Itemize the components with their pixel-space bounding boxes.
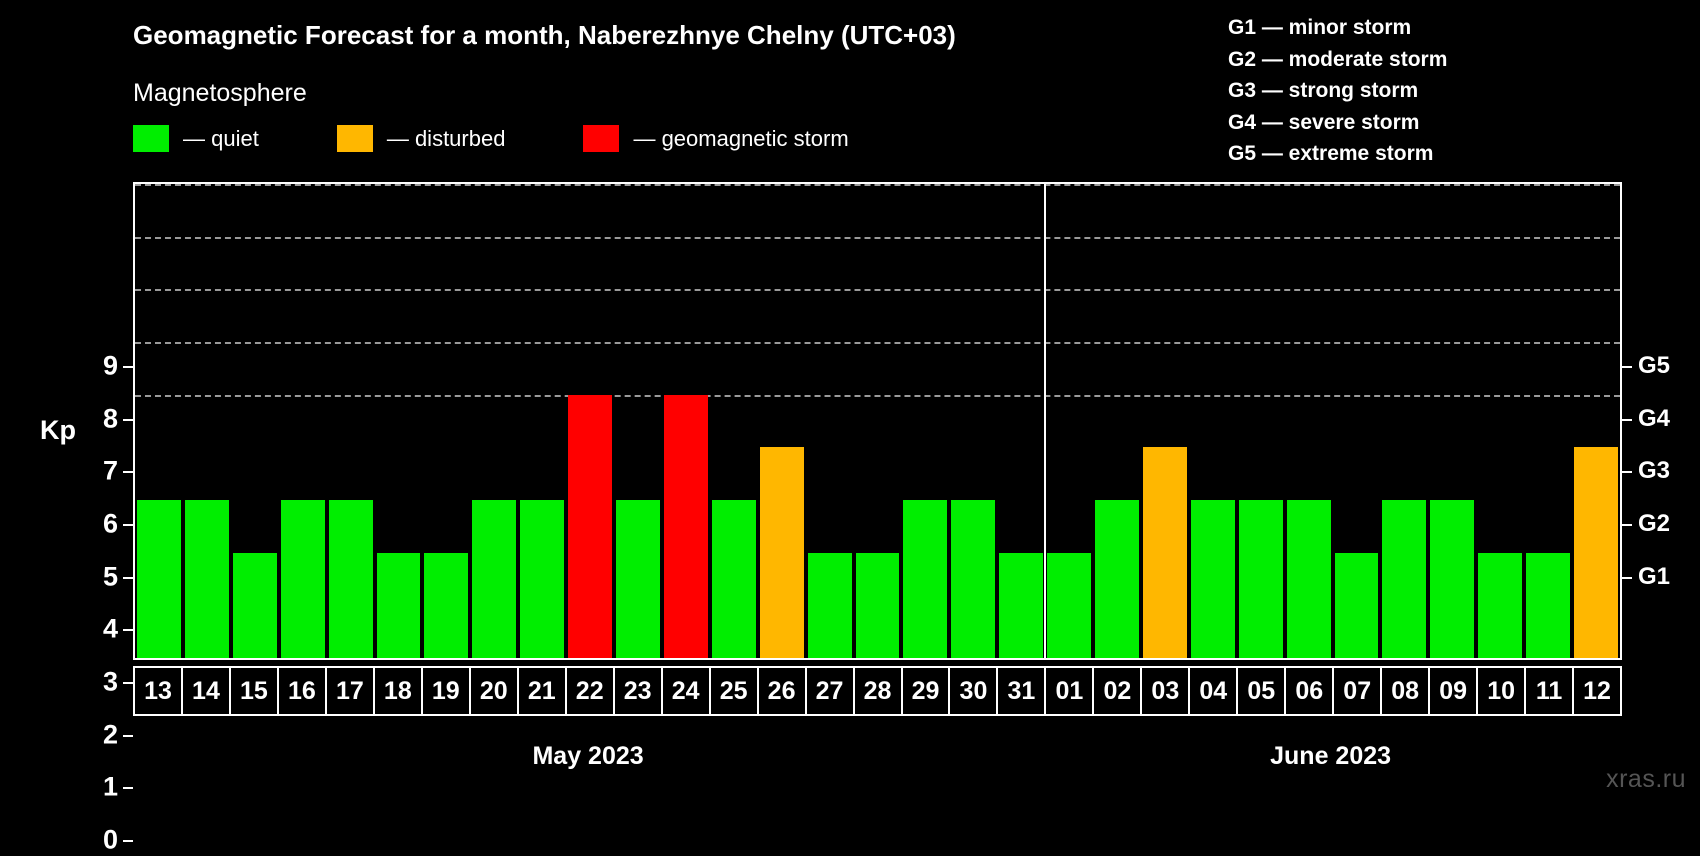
page-title: Geomagnetic Forecast for a month, Nabere…: [133, 20, 956, 51]
legend-item-storm: — geomagnetic storm: [583, 125, 848, 152]
date-cell-03: 03: [1142, 668, 1190, 714]
y-tick-label-4: 4: [78, 614, 118, 645]
date-cell-25: 25: [711, 668, 759, 714]
month-caption-1: May 2023: [532, 742, 643, 771]
date-cell-22: 22: [567, 668, 615, 714]
storm-key-line-2: G2 — moderate storm: [1228, 44, 1447, 76]
y-tick-3: [123, 682, 133, 684]
legend-swatch-quiet: [133, 125, 169, 152]
date-cell-01: 01: [1046, 668, 1094, 714]
y-tick-1: [123, 787, 133, 789]
g-tick-G4: [1622, 419, 1632, 421]
g-tick-label-G5: G5: [1638, 352, 1698, 380]
date-cell-28: 28: [855, 668, 903, 714]
date-cell-04: 04: [1190, 668, 1238, 714]
date-cell-21: 21: [519, 668, 567, 714]
date-cell-12: 12: [1574, 668, 1620, 714]
storm-key-line-4: G4 — severe storm: [1228, 107, 1447, 139]
y-tick-8: [123, 419, 133, 421]
date-cell-24: 24: [663, 668, 711, 714]
date-cell-14: 14: [183, 668, 231, 714]
legend-item-disturbed: — disturbed: [337, 125, 506, 152]
date-cell-09: 09: [1430, 668, 1478, 714]
y-tick-label-2: 2: [78, 719, 118, 750]
g-tick-label-G4: G4: [1638, 405, 1698, 433]
date-cell-26: 26: [759, 668, 807, 714]
date-cell-27: 27: [807, 668, 855, 714]
storm-key-line-5: G5 — extreme storm: [1228, 138, 1447, 170]
legend: — quiet— disturbed— geomagnetic storm: [133, 125, 927, 152]
g-tick-label-G1: G1: [1638, 563, 1698, 591]
y-tick-label-0: 0: [78, 825, 118, 856]
legend-item-quiet: — quiet: [133, 125, 259, 152]
date-cell-18: 18: [375, 668, 423, 714]
date-cell-20: 20: [471, 668, 519, 714]
date-cell-05: 05: [1238, 668, 1286, 714]
legend-swatch-storm: [583, 125, 619, 152]
date-cell-10: 10: [1478, 668, 1526, 714]
y-tick-label-7: 7: [78, 456, 118, 487]
y-tick-9: [123, 366, 133, 368]
storm-scale-key: G1 — minor stormG2 — moderate stormG3 — …: [1228, 12, 1447, 170]
y-tick-0: [123, 840, 133, 842]
g-tick-G3: [1622, 471, 1632, 473]
g-tick-label-G2: G2: [1638, 510, 1698, 538]
y-tick-label-3: 3: [78, 667, 118, 698]
date-cell-16: 16: [279, 668, 327, 714]
g-tick-G1: [1622, 577, 1632, 579]
y-tick-5: [123, 577, 133, 579]
legend-swatch-disturbed: [337, 125, 373, 152]
y-axis-title: Kp: [40, 415, 76, 446]
date-cell-02: 02: [1094, 668, 1142, 714]
date-cell-23: 23: [615, 668, 663, 714]
y-tick-label-1: 1: [78, 772, 118, 803]
date-cell-15: 15: [231, 668, 279, 714]
date-cell-06: 06: [1286, 668, 1334, 714]
y-tick-7: [123, 471, 133, 473]
g-tick-G5: [1622, 366, 1632, 368]
legend-label-quiet: — quiet: [183, 126, 259, 152]
date-cell-17: 17: [327, 668, 375, 714]
g-tick-G2: [1622, 524, 1632, 526]
watermark: xras.ru: [1606, 765, 1686, 794]
chart-axis-labels: 0123456789G1G2G3G4G5: [0, 182, 1700, 660]
date-cell-31: 31: [998, 668, 1046, 714]
date-axis-row: 1314151617181920212223242526272829303101…: [133, 666, 1622, 716]
date-cell-08: 08: [1382, 668, 1430, 714]
y-tick-label-6: 6: [78, 509, 118, 540]
month-caption-2: June 2023: [1270, 742, 1391, 771]
date-cell-13: 13: [135, 668, 183, 714]
date-cell-11: 11: [1526, 668, 1574, 714]
g-tick-label-G3: G3: [1638, 457, 1698, 485]
y-tick-label-5: 5: [78, 561, 118, 592]
storm-key-line-3: G3 — strong storm: [1228, 75, 1447, 107]
storm-key-line-1: G1 — minor storm: [1228, 12, 1447, 44]
y-tick-4: [123, 629, 133, 631]
y-tick-2: [123, 735, 133, 737]
magnetosphere-label: Magnetosphere: [133, 79, 307, 108]
date-cell-19: 19: [423, 668, 471, 714]
y-tick-label-9: 9: [78, 351, 118, 382]
legend-label-storm: — geomagnetic storm: [633, 126, 848, 152]
y-tick-6: [123, 524, 133, 526]
legend-label-disturbed: — disturbed: [387, 126, 506, 152]
date-cell-29: 29: [903, 668, 951, 714]
date-cell-07: 07: [1334, 668, 1382, 714]
y-tick-label-8: 8: [78, 403, 118, 434]
date-cell-30: 30: [950, 668, 998, 714]
